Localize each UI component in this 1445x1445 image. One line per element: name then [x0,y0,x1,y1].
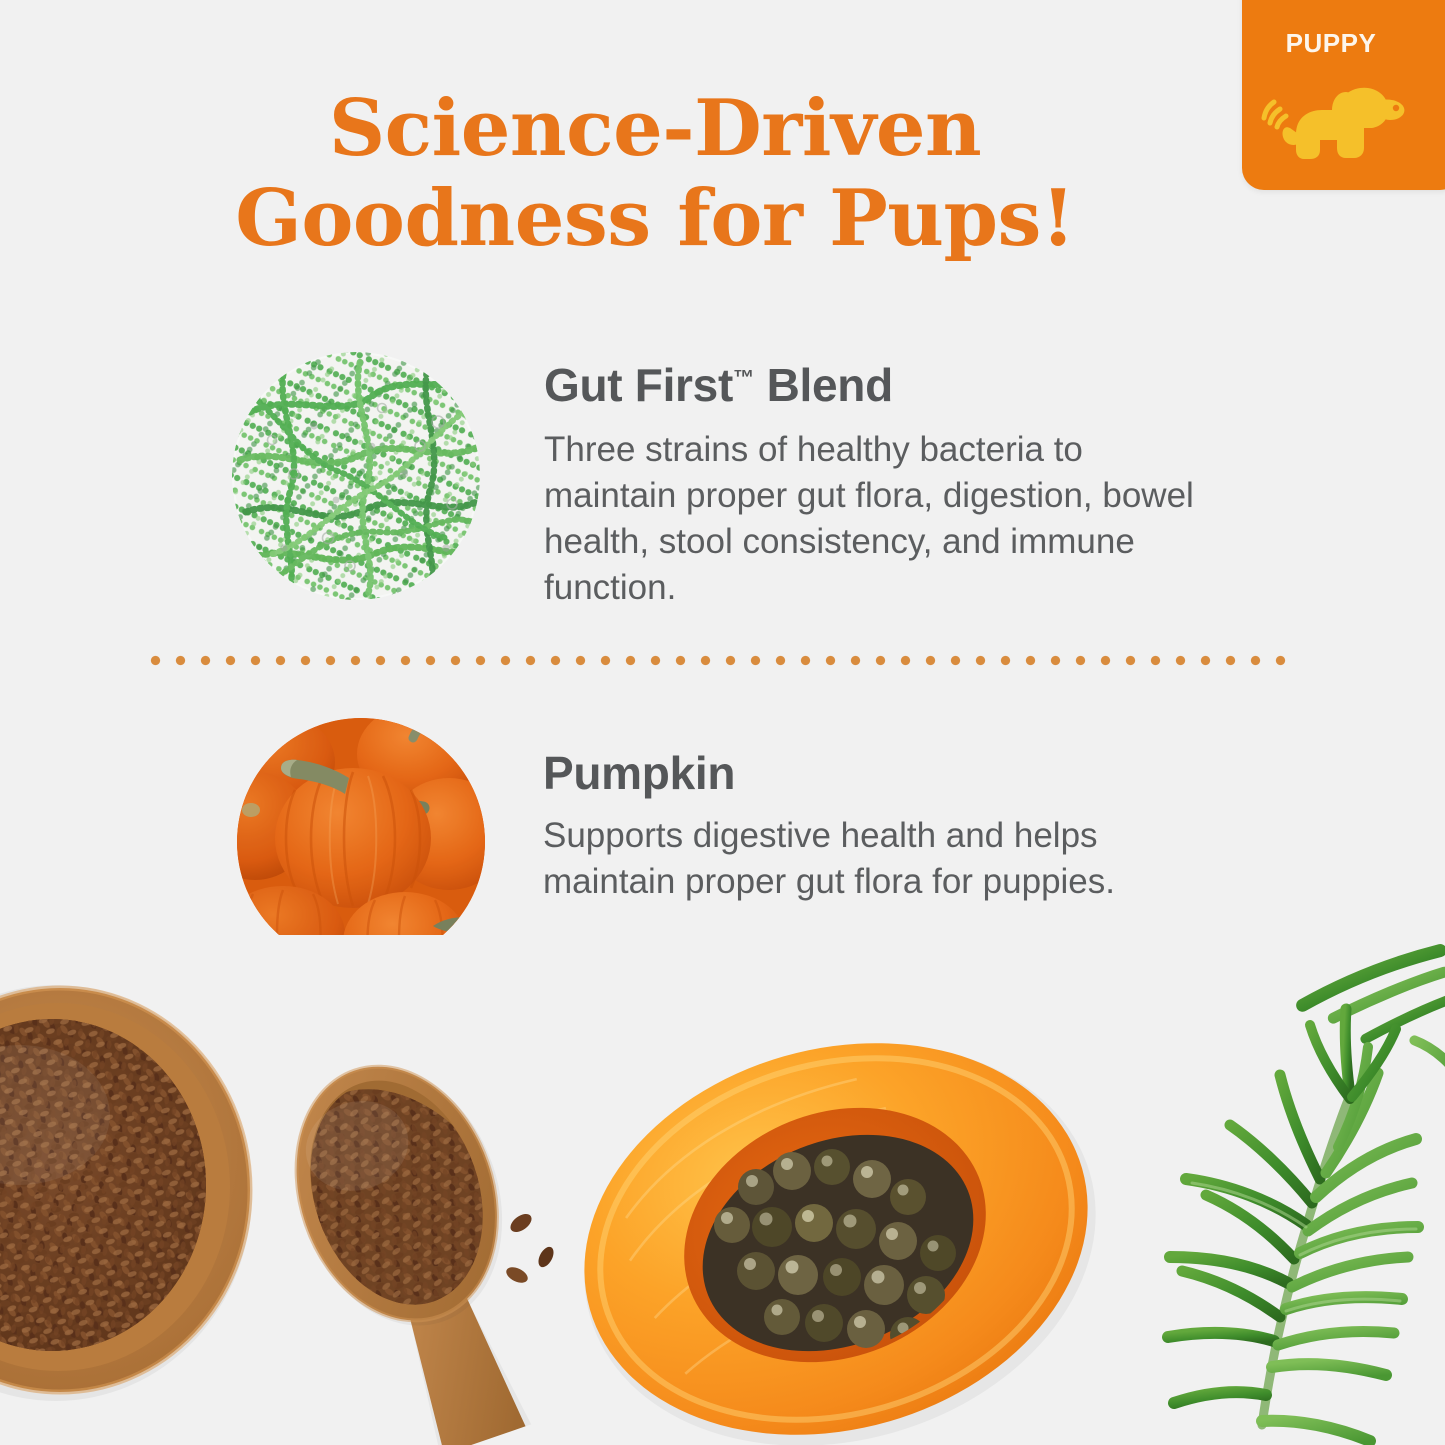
trademark-symbol: ™ [733,367,754,390]
feature-title-pumpkin: Pumpkin [543,748,1223,799]
dotted-divider [150,655,1286,666]
feature-row-pumpkin: Pumpkin Supports digestive health and he… [237,718,1247,966]
puppy-badge: PUPPY [1242,0,1445,190]
headline-line-2: Goodness for Pups! [120,174,1190,264]
feature-title-gut-first-blend: Gut First™ Blend [544,360,1224,411]
feature-title-main: Pumpkin [543,747,735,799]
feature-text-pumpkin: Pumpkin Supports digestive health and he… [543,718,1223,905]
feature-row-gut-first-blend: Gut First™ Blend Three strains of health… [232,352,1242,611]
feature-description-gut-first-blend: Three strains of healthy bacteria to mai… [544,427,1224,612]
feature-title-suffix: Blend [754,359,893,411]
puppy-dog-icon [1260,66,1410,166]
feature-title-main: Gut First [544,359,733,411]
page-headline: Science-Driven Goodness for Pups! [120,84,1190,265]
puppy-badge-label: PUPPY [1242,28,1420,59]
bacteria-microscopy-image [232,352,480,600]
bottom-photo-band [0,935,1445,1445]
feature-text-gut-first-blend: Gut First™ Blend Three strains of health… [544,352,1224,611]
pumpkin-photo-image [237,718,485,966]
infographic-canvas: PUPPY Science-Driven Good [0,0,1445,1445]
feature-description-pumpkin: Supports digestive health and helps main… [543,813,1223,905]
headline-line-1: Science-Driven [120,84,1190,174]
